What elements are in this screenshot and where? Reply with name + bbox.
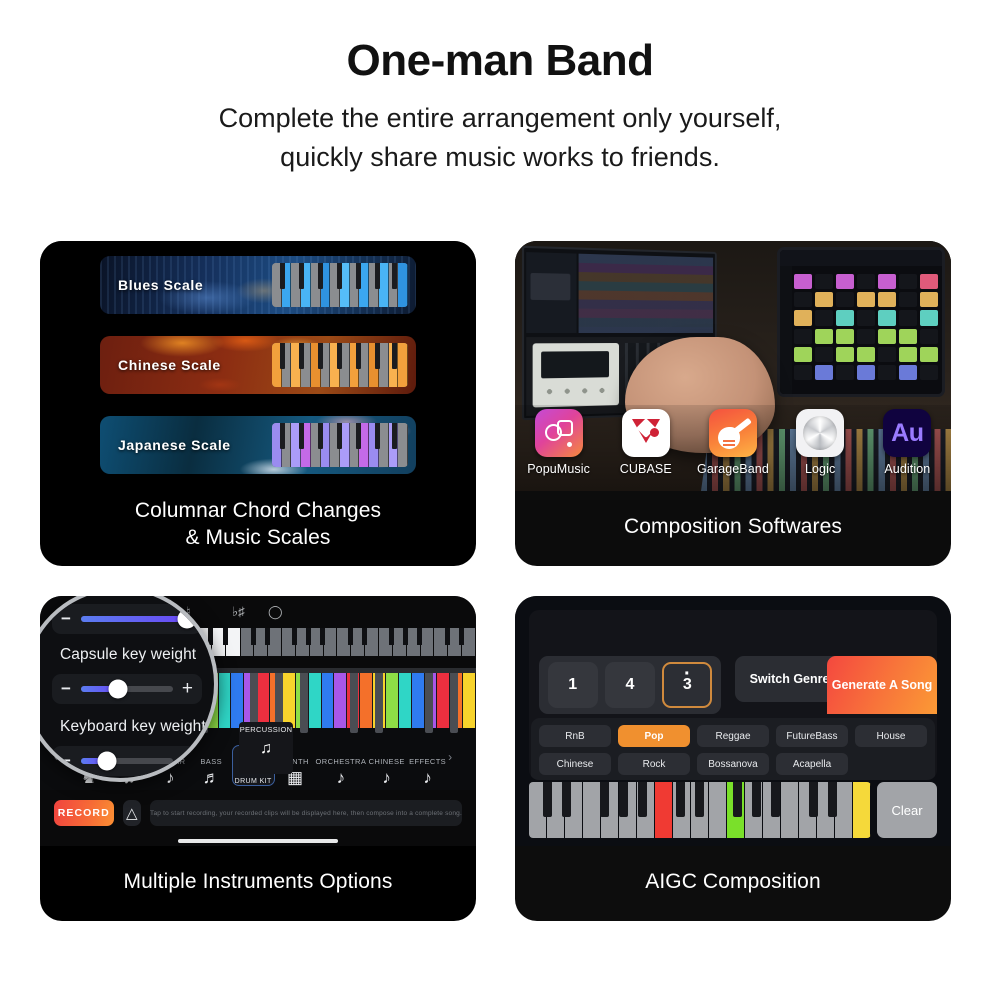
app-garageband[interactable]: GarageBand	[697, 409, 769, 476]
record-button[interactable]: RECORD	[54, 800, 114, 826]
slider-top-track[interactable]	[81, 616, 187, 622]
mini-keyboard-japanese[interactable]	[272, 423, 408, 467]
genre-pop-selected[interactable]: Pop	[618, 725, 690, 747]
slider-capsule-track[interactable]	[81, 686, 173, 692]
percussion-tab-label: PERCUSSION	[240, 725, 293, 734]
label-capsule-key-weight: Capsule key weight	[60, 646, 196, 664]
page-subtitle-line-1: Complete the entire arrangement only you…	[0, 99, 1000, 138]
genre-acapella[interactable]: Acapella	[776, 753, 848, 775]
genre-futurebass[interactable]: FutureBass	[776, 725, 848, 747]
genre-rnb[interactable]: RnB	[539, 725, 611, 747]
mini-keyboard-chinese[interactable]	[272, 343, 408, 387]
app-cubase-label: CUBASE	[620, 462, 672, 476]
label-keyboard-key-weight: Keyboard key weight	[60, 718, 206, 736]
page-header: One-man Band Complete the entire arrange…	[0, 36, 1000, 177]
scales-media: Blues Scale	[40, 241, 476, 491]
slider-capsule-key-weight[interactable]: − +	[52, 674, 202, 704]
instrument-item-effects[interactable]: EFFECTS ♪	[407, 757, 448, 786]
app-popumusic[interactable]: PopuMusic	[523, 409, 595, 476]
instrument-item-chinese[interactable]: CHINESE ♪	[366, 757, 407, 786]
feature-card-software[interactable]: PopuMusic CUBASE GarageBand	[515, 241, 951, 566]
app-logic-label: Logic	[805, 462, 835, 476]
bulb-icon[interactable]: ◯	[268, 604, 283, 620]
instruments-media: ♮ ♭♯ ◯	[40, 596, 476, 846]
scale-row-japanese[interactable]: Japanese Scale	[100, 416, 416, 474]
software-media: PopuMusic CUBASE GarageBand	[515, 241, 951, 491]
scales-list: Blues Scale	[40, 241, 476, 491]
app-garageband-label: GarageBand	[697, 462, 769, 476]
genre-rock[interactable]: Rock	[618, 753, 690, 775]
app-popumusic-label: PopuMusic	[527, 462, 590, 476]
chord-pad-3-label: 3	[683, 676, 692, 694]
instruments-caption: Multiple Instruments Options	[40, 843, 476, 921]
daw-sidebar	[526, 252, 576, 333]
scale-row-chinese[interactable]: Chinese Scale	[100, 336, 416, 394]
app-audition[interactable]: Au Audition	[871, 409, 943, 476]
aigc-keyboard-keys[interactable]	[529, 782, 871, 838]
app-cubase[interactable]: CUBASE	[610, 409, 682, 476]
slider-top[interactable]: −	[52, 604, 202, 634]
slider-keyboard-key-weight[interactable]: − +	[52, 746, 202, 776]
scale-label-chinese: Chinese Scale	[118, 357, 221, 373]
genre-house[interactable]: House	[855, 725, 927, 747]
chord-pad-group[interactable]: 1 4 3	[539, 656, 721, 714]
instrument-next-arrow[interactable]: ›	[448, 750, 462, 764]
feature-card-grid: Blues Scale	[40, 241, 960, 921]
software-caption: Composition Softwares	[515, 488, 951, 566]
app-audition-label: Audition	[884, 462, 930, 476]
orchestra-icon: ♪	[316, 769, 367, 786]
scale-row-blues[interactable]: Blues Scale	[100, 256, 416, 314]
genre-row-2: Chinese Rock Bossanova Acapella	[539, 753, 927, 775]
page-title: One-man Band	[0, 36, 1000, 87]
percussion-tab[interactable]: PERCUSSION ♫	[239, 722, 293, 774]
chord-pad-1[interactable]: 1	[548, 662, 598, 708]
scale-label-blues: Blues Scale	[118, 277, 203, 293]
tablet-device	[777, 247, 945, 397]
cubase-icon	[622, 409, 670, 457]
chord-pad-4[interactable]: 4	[605, 662, 655, 708]
genre-reggae[interactable]: Reggae	[697, 725, 769, 747]
metronome-icon[interactable]: △	[123, 800, 142, 826]
key-highlight-yellow	[853, 782, 871, 838]
scales-caption: Columnar Chord Changes & Music Scales	[40, 484, 476, 566]
page-subtitle-line-2: quickly share music works to friends.	[0, 138, 1000, 177]
effects-icon: ♪	[407, 769, 448, 786]
instrument-item-tr808-sublabel: DRUM KIT	[233, 778, 274, 785]
mini-keyboard-blues[interactable]	[272, 263, 408, 307]
logic-icon	[796, 409, 844, 457]
genre-chinese[interactable]: Chinese	[539, 753, 611, 775]
tablet-clip-grid	[794, 274, 938, 380]
instrument-app-screen: ♮ ♭♯ ◯	[40, 596, 476, 846]
magnifier-overlay: − Capsule key weight −	[40, 596, 218, 782]
popumusic-icon	[535, 409, 583, 457]
chinese-instrument-icon: ♪	[366, 769, 407, 786]
app-icon-row: PopuMusic CUBASE GarageBand	[515, 405, 951, 491]
slider-capsule-plus[interactable]: +	[179, 678, 193, 700]
genre-empty-slot	[855, 753, 927, 775]
record-row: RECORD △ Tap to start recording, your re…	[40, 796, 476, 830]
scales-caption-line-1: Columnar Chord Changes	[135, 498, 381, 525]
feature-card-instruments[interactable]: ♮ ♭♯ ◯	[40, 596, 476, 921]
daw-track-lanes	[579, 254, 713, 333]
aigc-app-screen: 1 4 3 Switch Genres Generate A Song RnB …	[515, 596, 951, 846]
app-logic[interactable]: Logic	[784, 409, 856, 476]
genre-row-1: RnB Pop Reggae FutureBass House	[539, 725, 927, 747]
genre-panel: RnB Pop Reggae FutureBass House Chinese …	[531, 718, 935, 780]
scale-label-japanese: Japanese Scale	[118, 437, 231, 453]
metronome-icon[interactable]: ♭♯	[232, 604, 245, 620]
drum-kit-icon: ♫	[260, 740, 272, 758]
page-subtitle: Complete the entire arrangement only you…	[0, 99, 1000, 177]
aigc-keyboard[interactable]: Clear	[529, 782, 937, 838]
clear-button[interactable]: Clear	[877, 782, 937, 838]
aigc-caption: AIGC Composition	[515, 843, 951, 921]
overview-inactive-range	[241, 628, 476, 656]
instrument-item-orchestra[interactable]: ORCHESTRA ♪	[316, 757, 367, 786]
key-highlight-red	[655, 782, 673, 838]
slider-keyboard-minus[interactable]: −	[61, 751, 75, 771]
slider-capsule-minus[interactable]: −	[61, 679, 75, 699]
product-feature-page: One-man Band Complete the entire arrange…	[0, 0, 1000, 1000]
slider-keyboard-plus[interactable]: +	[179, 750, 193, 772]
garageband-icon	[709, 409, 757, 457]
chord-pad-3-selected[interactable]: 3	[662, 662, 712, 708]
audition-glyph: Au	[891, 419, 923, 448]
record-hint-text: Tap to start recording, your recorded cl…	[150, 810, 462, 817]
slider-keyboard-track[interactable]	[81, 758, 173, 764]
scales-caption-line-2: & Music Scales	[135, 525, 381, 552]
aigc-stage: 1 4 3 Switch Genres Generate A Song RnB …	[529, 610, 937, 780]
feature-card-scales[interactable]: Blues Scale	[40, 241, 476, 566]
generate-a-song-button[interactable]: Generate A Song	[827, 656, 937, 714]
tablet-topbar	[780, 250, 942, 266]
record-hint-bar: Tap to start recording, your recorded cl…	[150, 800, 462, 826]
audition-icon: Au	[883, 409, 931, 457]
tablet-side-rail	[780, 266, 792, 394]
aigc-media: 1 4 3 Switch Genres Generate A Song RnB …	[515, 596, 951, 846]
feature-card-aigc[interactable]: 1 4 3 Switch Genres Generate A Song RnB …	[515, 596, 951, 921]
genre-bossanova[interactable]: Bossanova	[697, 753, 769, 775]
slider-top-minus[interactable]: −	[61, 609, 75, 629]
mixer-unit	[533, 343, 619, 407]
